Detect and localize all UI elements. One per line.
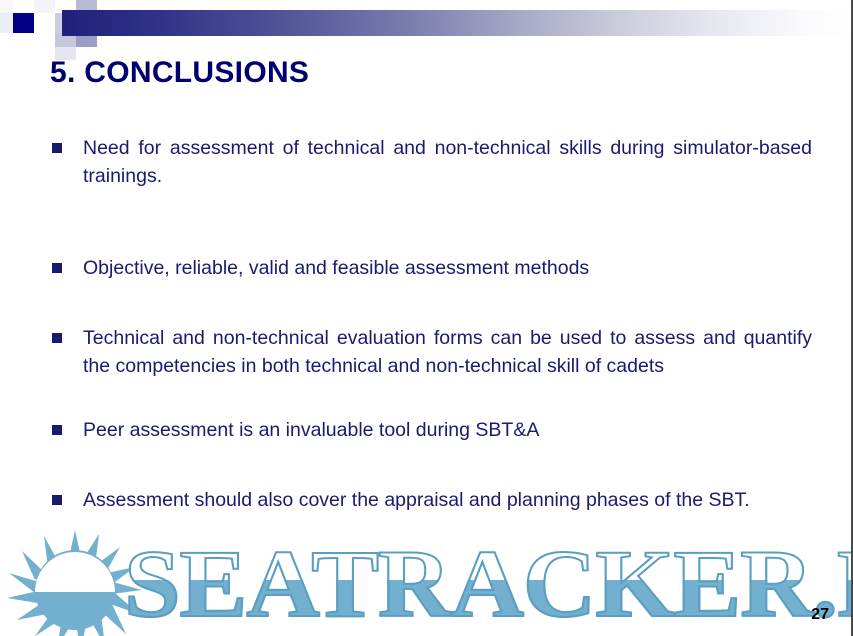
bullet-list: Need for assessment of technical and non… [52, 134, 812, 514]
watermark: SEATRACKER.RU [0, 512, 853, 636]
header-gradient-bar [62, 10, 853, 36]
header-decoration [0, 0, 853, 48]
list-item-text: Objective, reliable, valid and feasible … [83, 254, 812, 282]
bullet-square-icon [52, 263, 62, 273]
page-number: 27 [811, 606, 829, 624]
list-item-text: Need for assessment of technical and non… [83, 134, 812, 190]
deco-square [0, 0, 13, 13]
presentation-slide: 5. CONCLUSIONS Need for assessment of te… [0, 0, 853, 636]
page-title: 5. CONCLUSIONS [50, 56, 309, 90]
spacer [52, 190, 812, 254]
deco-square [34, 13, 55, 33]
list-item: Technical and non-technical evaluation f… [52, 324, 812, 380]
deco-square [34, 0, 55, 13]
bullet-square-icon [52, 143, 62, 153]
deco-square [0, 13, 13, 33]
list-item: Objective, reliable, valid and feasible … [52, 254, 812, 282]
list-item-text: Peer assessment is an invaluable tool du… [83, 416, 812, 444]
bullet-square-icon [52, 333, 62, 343]
sun-icon [2, 528, 148, 636]
bullet-square-icon [52, 425, 62, 435]
bullet-square-icon [52, 495, 62, 505]
deco-square [34, 33, 55, 47]
spacer [52, 380, 812, 416]
list-item-text: Assessment should also cover the apprais… [83, 486, 812, 514]
watermark-text: SEATRACKER.RU [124, 536, 853, 632]
spacer [52, 282, 812, 324]
deco-square-accent [13, 13, 34, 33]
spacer [52, 444, 812, 486]
list-item: Need for assessment of technical and non… [52, 134, 812, 190]
list-item: Peer assessment is an invaluable tool du… [52, 416, 812, 444]
list-item-text: Technical and non-technical evaluation f… [83, 324, 812, 380]
list-item: Assessment should also cover the apprais… [52, 486, 812, 514]
